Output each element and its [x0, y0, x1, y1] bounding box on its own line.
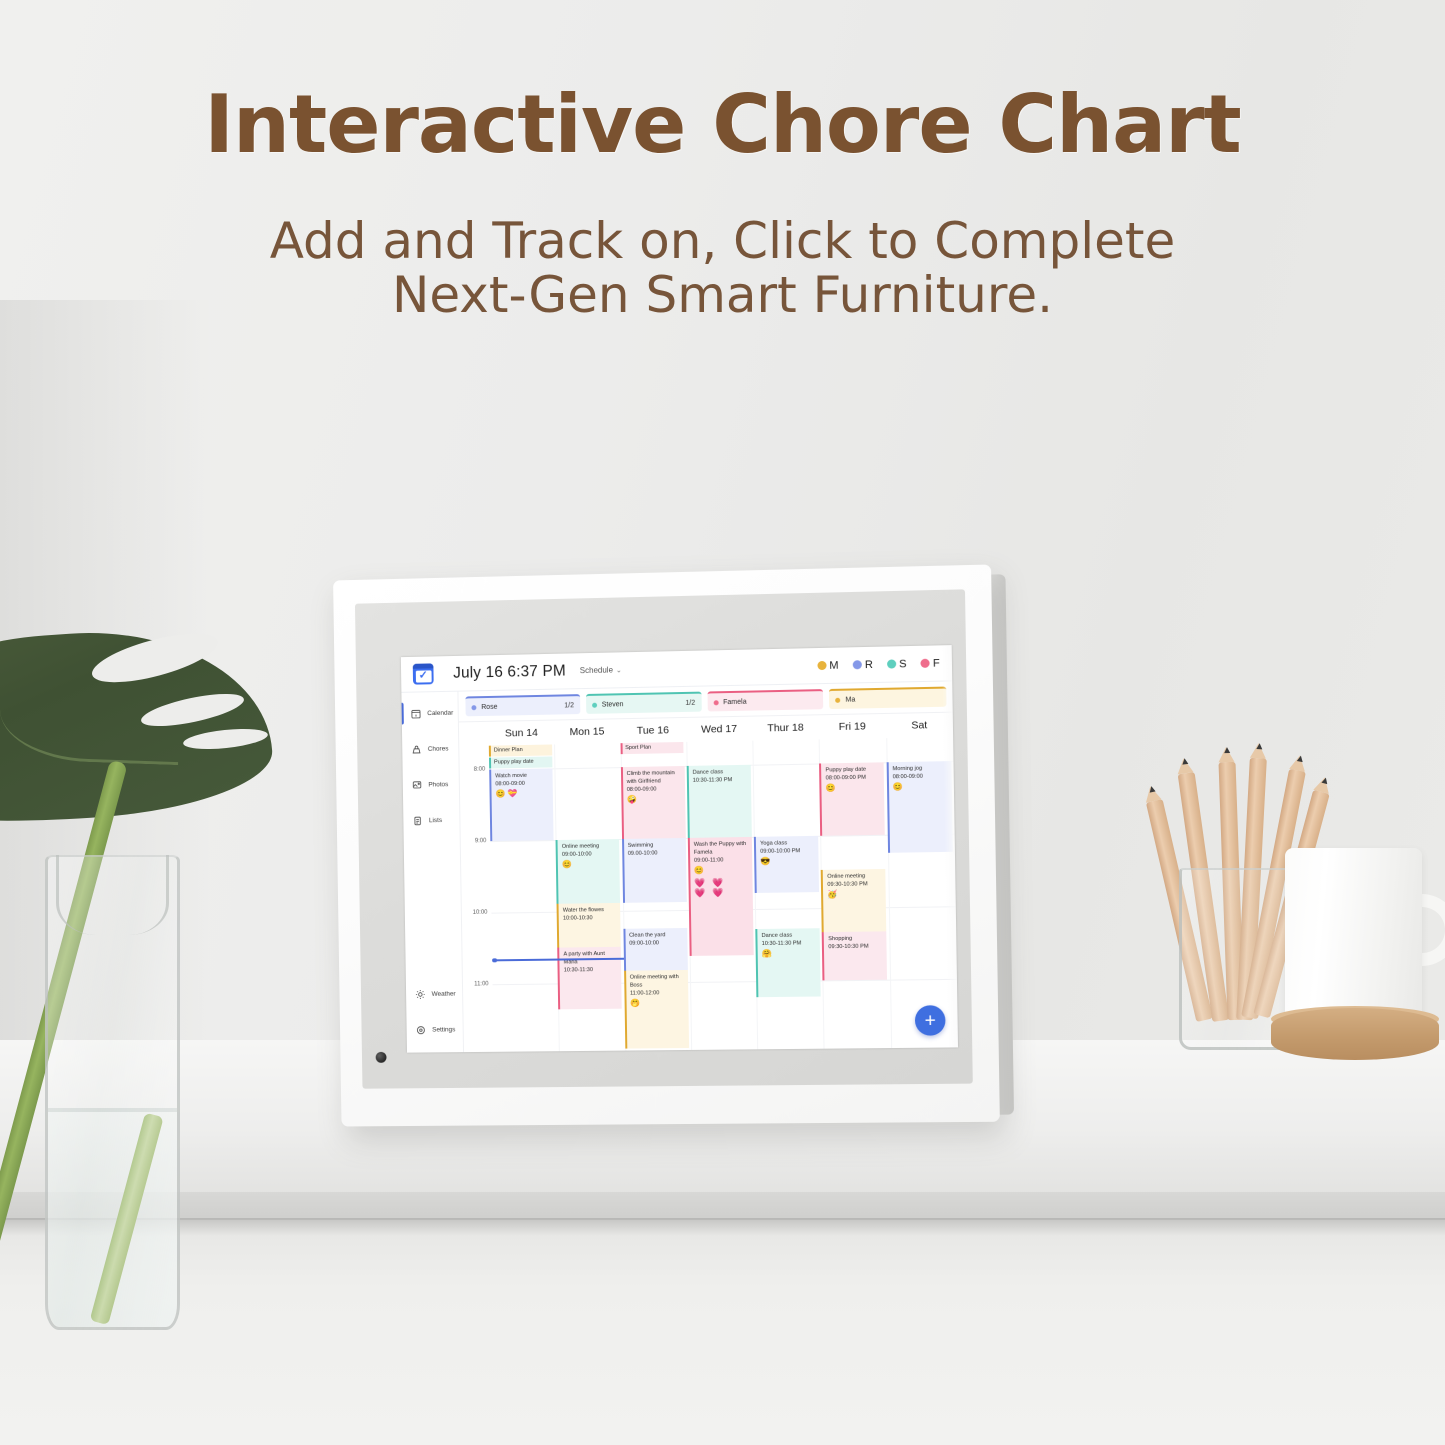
day-header[interactable]: Sun 14 — [488, 721, 554, 746]
member-dot-icon — [471, 705, 476, 710]
current-time-dot — [492, 958, 497, 963]
member-name: Rose — [481, 703, 497, 710]
all-day-event[interactable]: Dinner Plan — [489, 744, 552, 756]
product-poster-scene: Interactive Chore Chart Add and Track on… — [0, 0, 1445, 1445]
calendar-event[interactable]: Yoga class09:00-10:00 PM😎 — [754, 836, 819, 893]
day-header[interactable]: Sat — [886, 713, 954, 738]
legend-letter: M — [829, 659, 838, 671]
sidebar-item-lists[interactable]: Lists — [403, 807, 459, 834]
time-label: 10:00 — [473, 910, 488, 916]
legend-letter: S — [899, 658, 907, 670]
legend-item[interactable]: F — [921, 657, 940, 669]
add-event-button[interactable]: + — [915, 1005, 946, 1036]
sidebar-item-chores[interactable]: Chores — [402, 735, 458, 762]
member-chip[interactable]: Ma — [829, 687, 946, 710]
event-time: 08:00-09:00 — [893, 772, 949, 781]
subtitle-line-2: Next-Gen Smart Furniture. — [0, 269, 1445, 323]
nav-spacer — [406, 1006, 462, 1017]
legend-item[interactable]: S — [887, 658, 907, 670]
sidebar-nav-primary: CalendarChoresPhotosLists — [402, 700, 460, 834]
event-emoji: 😊 — [893, 783, 949, 793]
day-header[interactable]: Thur 18 — [752, 715, 819, 740]
calendar-event[interactable]: Water the flowes10:00-10:30 — [557, 903, 621, 948]
sidebar-item-weather[interactable]: Weather — [406, 981, 462, 1007]
member-task-count: 1/2 — [685, 699, 695, 706]
event-emoji: 😎 — [760, 857, 815, 867]
event-title: Wash the Puppy with Famela — [694, 840, 749, 857]
legend-dot-icon — [817, 661, 826, 670]
legend-letter: F — [933, 657, 940, 669]
app-icon-check-glyph: ✓ — [415, 670, 431, 682]
view-mode-dropdown[interactable]: Schedule ⌄ — [580, 665, 622, 675]
sidebar-nav-secondary: WeatherSettings — [406, 981, 463, 1043]
member-name: Ma — [845, 696, 855, 703]
app-sidebar: CalendarChoresPhotosLists WeatherSetting… — [401, 692, 464, 1053]
event-time: 09:00-10:00 — [562, 850, 617, 859]
member-chip[interactable]: Famela — [707, 689, 823, 711]
time-label: 11:00 — [474, 981, 488, 987]
member-chip[interactable]: Steven1/2 — [586, 692, 702, 714]
event-time: 10:30-11:30 PM — [762, 939, 817, 948]
event-title: Climb the mountain with Girlfriend — [626, 769, 681, 786]
vase-neck — [56, 855, 169, 935]
calendar-event[interactable]: Morning jog08:00-09:00😊 — [886, 761, 952, 853]
event-time: 09.00-10:00 — [628, 849, 683, 858]
legend-item[interactable]: M — [817, 659, 839, 672]
calendar-grid: 8:009:0010:0011:0012:00 Sun 14Mon 15Tue … — [459, 713, 958, 1052]
all-day-event[interactable]: Sport Plan — [620, 742, 683, 754]
member-dot-icon — [713, 700, 718, 705]
calendar-event[interactable]: Wash the Puppy with Famela09:00-11:00😊💗 … — [688, 837, 754, 956]
calendar-event[interactable]: Puppy play date08:00-09:00 PM😊 — [819, 762, 885, 835]
gear-icon — [415, 1024, 426, 1035]
member-name: Famela — [723, 698, 746, 705]
view-mode-label: Schedule — [580, 665, 613, 675]
calendar-event[interactable]: Dance class10:30-11:30 PM🤗 — [755, 928, 820, 997]
sidebar-item-label: Photos — [428, 781, 448, 788]
legend-dot-icon — [921, 659, 930, 668]
events-canvas: Dinner PlanPuppy play dateSport PlanWatc… — [489, 737, 958, 1052]
event-emoji: 😊 — [694, 866, 749, 876]
event-title: Online meeting with Boss — [630, 973, 685, 990]
event-emoji: 🤭 — [630, 999, 685, 1008]
event-emoji: 😊 — [826, 784, 882, 794]
sidebar-item-calendar[interactable]: Calendar — [402, 700, 458, 727]
current-datetime: July 16 6:37 PM — [453, 662, 566, 682]
calendar-event[interactable]: Dance class10:30-11:30 PM — [687, 765, 752, 838]
event-time: 10:30-11:30 — [564, 966, 619, 975]
event-heart-reactions: 💗 💗 💗 💗 — [694, 877, 749, 899]
calendar-event[interactable]: Online meeting with Boss11:00-12:00🤭 — [624, 970, 689, 1049]
event-emoji: 😊 — [562, 860, 617, 870]
event-emoji: 🤗 — [762, 950, 817, 960]
event-time: 08:00-09:00 — [495, 779, 549, 788]
event-time: 09:00-10:00 PM — [760, 847, 815, 856]
legend-letter: R — [865, 658, 873, 670]
day-header[interactable]: Wed 17 — [686, 717, 753, 742]
event-time: 11:00-12:00 — [630, 989, 685, 998]
legend-item[interactable]: R — [853, 658, 873, 670]
calendar-event[interactable]: Watch movie08:00-09:00😊 💝 — [489, 768, 553, 841]
day-header[interactable]: Tue 16 — [620, 718, 686, 743]
pencil-cup — [1165, 740, 1305, 1050]
desk-shadow — [0, 1218, 1445, 1236]
calendar-check-icon[interactable]: ✓ — [413, 663, 434, 684]
cork-coaster — [1271, 1008, 1439, 1060]
calendar-event[interactable]: Online meeting09:00-10:00😊 — [556, 839, 620, 904]
event-time: 09:30-10:30 PM — [827, 880, 883, 889]
event-time: 08:00-09:00 PM — [826, 774, 882, 783]
poster-headings: Interactive Chore Chart Add and Track on… — [0, 85, 1445, 322]
mug-body — [1285, 848, 1422, 1026]
sun-icon — [415, 988, 426, 999]
sidebar-item-label: Chores — [428, 745, 449, 752]
days-area: Sun 14Mon 15Tue 16Wed 17Thur 18Fri 19Sat… — [488, 713, 958, 1052]
page-title: Interactive Chore Chart — [0, 85, 1445, 165]
photos-icon — [412, 779, 423, 790]
event-time: 10:00-10:30 — [563, 914, 618, 923]
member-name: Steven — [602, 701, 624, 708]
member-chip[interactable]: Rose1/2 — [465, 694, 580, 716]
sidebar-item-label: Settings — [432, 1026, 455, 1033]
sidebar-item-settings[interactable]: Settings — [406, 1016, 462, 1042]
member-dot-icon — [835, 697, 840, 702]
event-emoji: 🤪 — [627, 795, 682, 805]
coffee-mug — [1285, 848, 1445, 1063]
member-task-count: 1/2 — [564, 702, 574, 709]
sidebar-item-label: Calendar — [427, 709, 453, 716]
calendar-event[interactable]: Shopping09:30-10:30 PM — [822, 931, 887, 980]
calendar-event[interactable]: Swimming09.00-10:00 — [622, 838, 687, 903]
monstera-plant — [0, 310, 320, 1070]
calendar-icon — [410, 708, 421, 719]
subtitle-line-1: Add and Track on, Click to Complete — [0, 215, 1445, 269]
camera-icon — [376, 1052, 387, 1063]
member-legend: MRSF — [817, 657, 940, 672]
chores-icon — [411, 743, 422, 754]
sidebar-item-label: Weather — [432, 990, 456, 997]
all-day-event[interactable]: Puppy play date — [489, 756, 552, 768]
sidebar-item-label: Lists — [429, 817, 442, 824]
calendar-area: Rose1/2Steven1/2FamelaMa 8:009:0010:0011… — [458, 681, 958, 1052]
event-time: 10:30-11:30 PM — [693, 776, 748, 785]
lower-wall — [0, 1220, 1445, 1445]
legend-dot-icon — [853, 660, 862, 669]
sidebar-item-photos[interactable]: Photos — [403, 771, 459, 798]
day-header[interactable]: Fri 19 — [819, 714, 886, 739]
legend-dot-icon — [887, 659, 896, 668]
desk-edge — [0, 1192, 1445, 1220]
event-emoji: 🥳 — [828, 890, 884, 900]
event-time: 09:00-11:00 — [694, 856, 749, 865]
member-dot-icon — [592, 702, 597, 707]
column-gridline — [752, 741, 758, 1052]
event-time: 09:30-10:30 PM — [828, 943, 884, 952]
app-body: CalendarChoresPhotosLists WeatherSetting… — [401, 681, 958, 1052]
device-screen: ✓ July 16 6:37 PM Schedule ⌄ MRSF Calend… — [401, 645, 958, 1053]
calendar-event[interactable]: Clean the yard09:00-10:00 — [623, 928, 687, 971]
calendar-event[interactable]: A party with Aunt Maria10:30-11:30 — [558, 947, 622, 1010]
time-label: 9:00 — [475, 838, 487, 844]
calendar-event[interactable]: Online meeting09:30-10:30 PM🥳 — [821, 869, 887, 932]
time-label: 8:00 — [474, 767, 486, 773]
event-time: 09:00-10:00 — [629, 939, 684, 948]
chevron-down-icon: ⌄ — [616, 666, 622, 674]
smart-display-device: ✓ July 16 6:37 PM Schedule ⌄ MRSF Calend… — [333, 563, 1041, 1129]
day-header[interactable]: Mon 15 — [554, 719, 620, 744]
calendar-event[interactable]: Climb the mountain with Girlfriend08:00-… — [620, 766, 685, 839]
lists-icon — [412, 815, 423, 826]
event-time: 08:00-09:00 — [627, 785, 682, 794]
event-emoji: 😊 💝 — [495, 790, 549, 800]
device-frame: ✓ July 16 6:37 PM Schedule ⌄ MRSF Calend… — [333, 564, 1000, 1126]
page-subtitle: Add and Track on, Click to Complete Next… — [0, 215, 1445, 322]
